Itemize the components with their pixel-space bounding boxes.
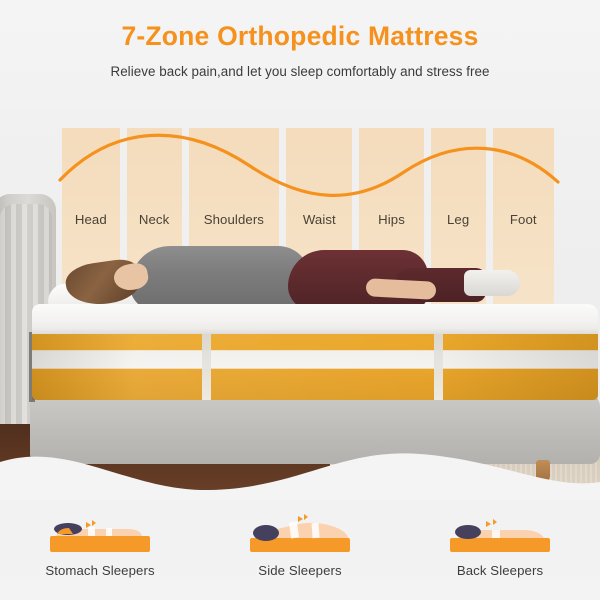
mattress-handle-right xyxy=(434,334,443,400)
sleeper-label: Stomach Sleepers xyxy=(10,563,190,578)
mattress-top-surface xyxy=(32,304,598,338)
bed-scene: HeadNeckShouldersWaistHipsLegFoot xyxy=(0,108,600,500)
page-subtitle: Relieve back pain,and let you sleep comf… xyxy=(0,51,600,79)
mattress xyxy=(32,304,598,404)
infographic-page: 7-Zone Orthopedic Mattress Relieve back … xyxy=(0,0,600,600)
stomach-sleeper-icon xyxy=(10,508,190,556)
zone-wave-curve xyxy=(54,120,564,216)
sleeper-label: Side Sleepers xyxy=(210,563,390,578)
page-title: 7-Zone Orthopedic Mattress xyxy=(0,0,600,51)
mattress-handle-left xyxy=(202,334,211,400)
header: 7-Zone Orthopedic Mattress Relieve back … xyxy=(0,0,600,110)
sleeper-card-back: Back Sleepers xyxy=(410,508,590,578)
side-sleeper-icon xyxy=(210,508,390,556)
sleeper-label: Back Sleepers xyxy=(410,563,590,578)
person-arm xyxy=(366,278,437,300)
wave-divider xyxy=(0,432,600,500)
sleeper-card-stomach: Stomach Sleepers xyxy=(10,508,190,578)
person-torso xyxy=(130,246,310,310)
back-sleeper-icon xyxy=(410,508,590,556)
sleeper-card-side: Side Sleepers xyxy=(210,508,390,578)
person-socks xyxy=(464,270,520,296)
mattress-side-panel xyxy=(32,334,598,400)
sleeper-types: Stomach SleepersSide SleepersBack Sleepe… xyxy=(0,500,600,600)
